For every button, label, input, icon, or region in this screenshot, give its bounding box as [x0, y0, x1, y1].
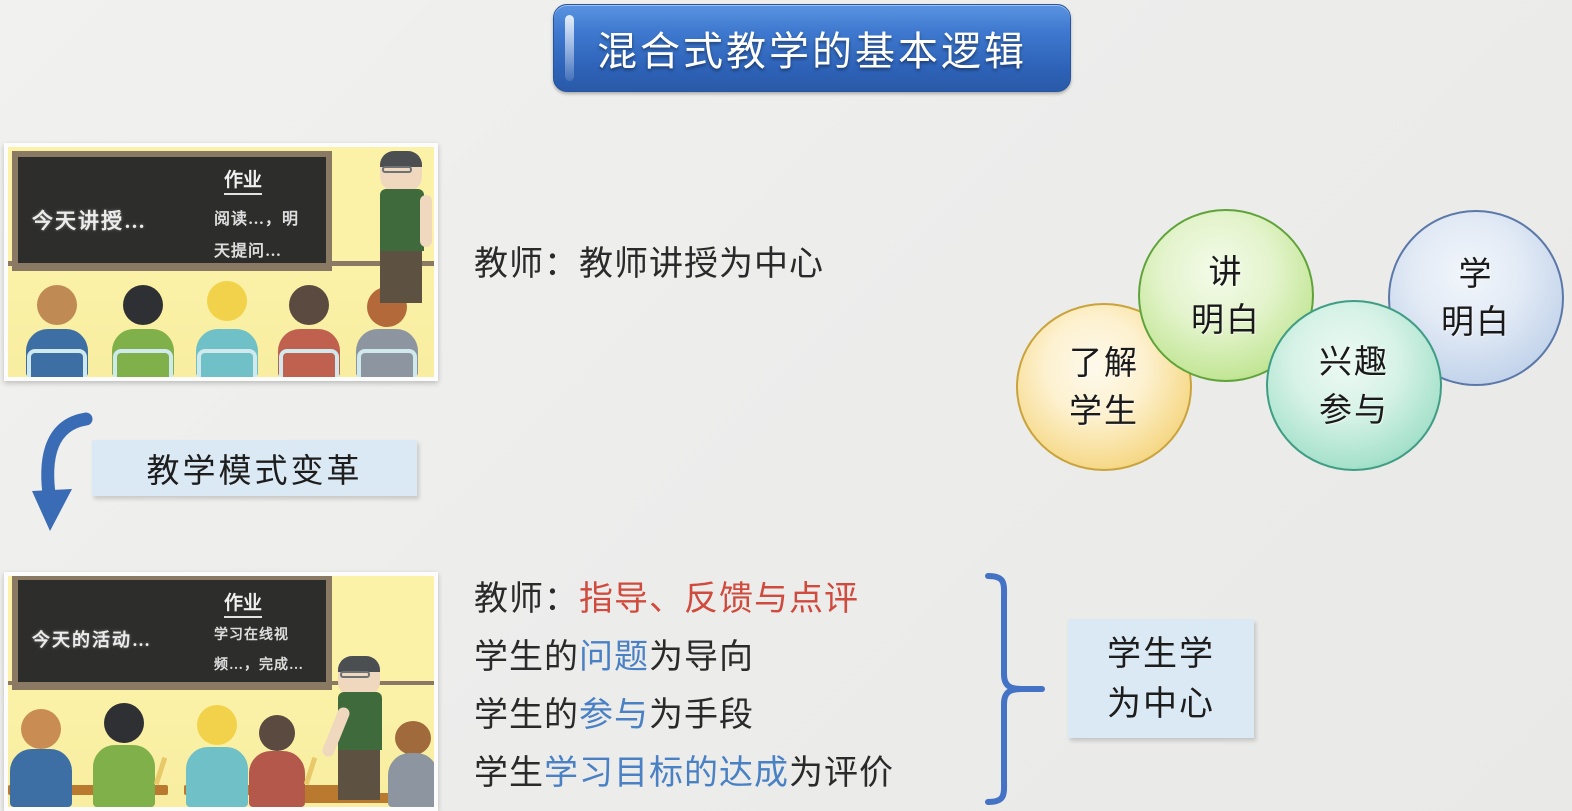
teacher-glasses	[382, 166, 412, 173]
student-head	[207, 281, 247, 321]
student-head	[259, 715, 295, 751]
blackboard-homework-line-1: 阅读…，明	[214, 205, 299, 229]
blackboard-main-text: 今天的活动…	[32, 626, 152, 652]
statement-highlight: 问题	[579, 638, 649, 676]
blackboard-main-text: 今天讲授…	[32, 205, 147, 235]
bubble-line-1: 学	[1459, 250, 1494, 298]
statement-prefix: 学生	[474, 754, 544, 792]
change-label-text: 教学模式变革	[147, 444, 363, 492]
student-head	[395, 721, 431, 755]
blackboard-homework-line-2: 频…，完成…	[214, 654, 304, 674]
student-body	[93, 745, 155, 807]
student-figure	[248, 711, 306, 807]
student-body	[10, 749, 72, 807]
teacher-legs	[338, 750, 380, 800]
statement-suffix: 为评价	[789, 754, 894, 792]
blackboard: 今天讲授… 作业 阅读…，明 天提问…	[12, 151, 332, 271]
bubble-line-2: 明白	[1191, 296, 1261, 344]
statement-row: 教师：指导、反馈与点评	[474, 570, 894, 628]
student-chair	[27, 349, 87, 379]
student-figure	[92, 703, 156, 807]
bubble-line-2: 明白	[1441, 298, 1511, 346]
teaching-model-change-label: 教学模式变革	[92, 440, 417, 496]
teacher-torso	[380, 189, 424, 251]
bubble-line-1: 了解	[1069, 339, 1139, 387]
teacher-figure	[380, 151, 438, 341]
student-centered-statements: 教师：指导、反馈与点评 学生的问题为导向 学生的参与为手段 学生学习目标的达成为…	[474, 570, 894, 802]
statement-suffix: 为手段	[649, 696, 754, 734]
active-classroom-image: 今天的活动… 作业 学习在线视 频…，完成…	[4, 572, 438, 811]
blackboard: 今天的活动… 作业 学习在线视 频…，完成…	[12, 574, 332, 690]
blackboard-homework-line-1: 学习在线视	[214, 624, 289, 644]
student-centered-label: 学生学 为中心	[1068, 619, 1254, 738]
blackboard-homework-line-2: 天提问…	[214, 237, 282, 261]
student-figure	[20, 285, 94, 377]
bubble-interest-participation: 兴趣 参与	[1266, 300, 1442, 471]
statement-row: 学生学习目标的达成为评价	[474, 744, 894, 802]
traditional-classroom-image: 今天讲授… 作业 阅读…，明 天提问…	[4, 143, 438, 381]
student-figure	[106, 285, 180, 377]
teacher-arm	[420, 195, 432, 247]
student-chair	[197, 349, 257, 379]
slide-title-banner: 混合式教学的基本逻辑	[553, 4, 1071, 92]
student-figure	[272, 285, 346, 377]
student-figure	[10, 707, 72, 807]
student-head	[21, 709, 61, 749]
bubble-line-2: 参与	[1319, 386, 1389, 434]
student-head	[37, 285, 77, 325]
teacher-hair	[380, 151, 422, 167]
student-figure	[190, 281, 264, 377]
statement-suffix: 为导向	[649, 638, 754, 676]
statement-prefix: 学生的	[474, 638, 579, 676]
student-head	[289, 285, 329, 325]
curly-brace-icon	[968, 570, 1048, 808]
teacher-centered-statement: 教师：教师讲授为中心	[474, 236, 824, 285]
student-head	[197, 705, 237, 745]
student-chair	[357, 349, 417, 379]
center-label-line-2: 为中心	[1107, 679, 1215, 729]
statement-highlight: 指导、反馈与点评	[579, 580, 859, 618]
student-head	[123, 285, 163, 325]
teacher-glasses	[340, 671, 370, 678]
teacher-figure	[338, 656, 394, 806]
statement-highlight: 参与	[579, 696, 649, 734]
teacher-hair	[338, 656, 380, 672]
page-title: 混合式教学的基本逻辑	[597, 19, 1027, 77]
student-figure	[186, 705, 248, 807]
teacher-legs	[380, 251, 422, 303]
statement-highlight: 学习目标的达成	[544, 754, 789, 792]
statement-row: 学生的问题为导向	[474, 628, 894, 686]
slide-canvas: 混合式教学的基本逻辑 今天讲授… 作业 阅读…，明 天提问…	[0, 0, 1572, 811]
student-chair	[113, 349, 173, 379]
statement-prefix: 学生的	[474, 696, 579, 734]
bubble-line-1: 兴趣	[1319, 338, 1389, 386]
bubble-line-2: 学生	[1069, 387, 1139, 435]
center-label-line-1: 学生学	[1107, 629, 1215, 679]
student-body	[249, 751, 305, 807]
student-body	[388, 753, 438, 807]
student-chair	[279, 349, 339, 379]
blackboard-homework-title: 作业	[224, 165, 262, 195]
statement-prefix: 教师：	[474, 580, 579, 618]
student-body	[186, 747, 248, 807]
student-head	[104, 703, 144, 743]
blackboard-homework-title: 作业	[224, 588, 262, 618]
statement-row: 学生的参与为手段	[474, 686, 894, 744]
bubble-line-1: 讲	[1209, 248, 1244, 296]
